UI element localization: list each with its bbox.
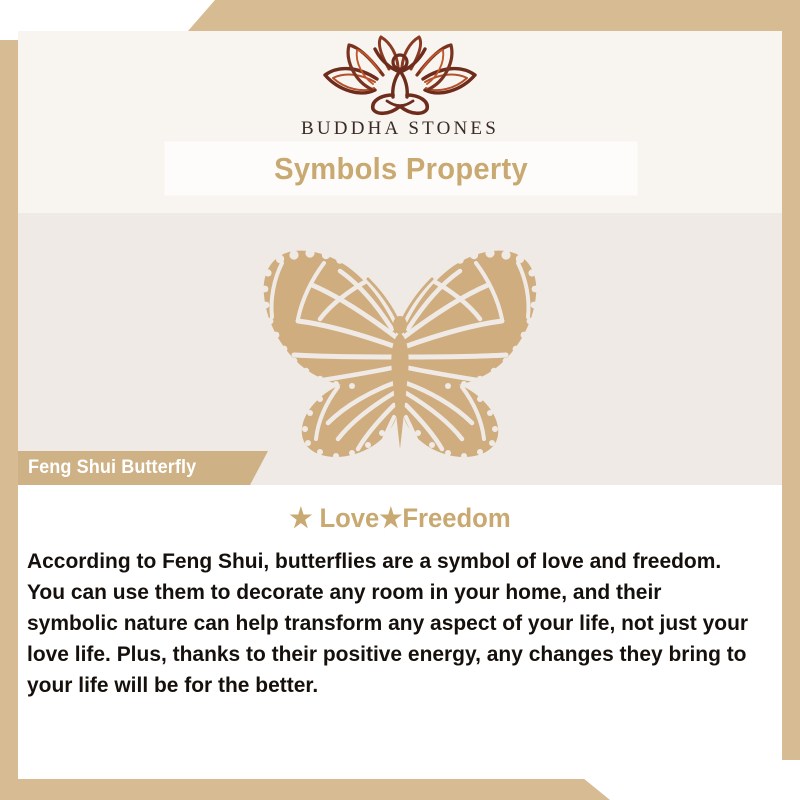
brand-logo: BUDDHA STONES [18, 31, 782, 145]
description-section: ★ Love★Freedom According to Feng Shui, b… [18, 485, 782, 779]
frame-bottom-band [0, 778, 800, 800]
brand-wordmark: BUDDHA STONES [301, 118, 499, 140]
title-banner: Symbols Property [165, 142, 637, 195]
frame-right-band [782, 0, 800, 760]
subheading: ★ Love★Freedom [37, 503, 763, 534]
poster-card: BUDDHA STONES Symbols Property [18, 31, 782, 779]
body-paragraph: According to Feng Shui, butterflies are … [27, 546, 755, 701]
feature-tag: Feng Shui Butterfly [18, 451, 268, 485]
feature-tag-label: Feng Shui Butterfly [28, 457, 196, 479]
feature-image-section [18, 213, 782, 485]
poster-canvas: BUDDHA STONES Symbols Property [0, 0, 800, 800]
header-section: BUDDHA STONES Symbols Property [18, 31, 782, 213]
lotus-meditation-icon [315, 35, 485, 117]
frame-left-band [0, 40, 18, 800]
butterfly-icon [220, 233, 580, 465]
page-title: Symbols Property [274, 151, 528, 187]
frame-top-band [0, 0, 800, 31]
